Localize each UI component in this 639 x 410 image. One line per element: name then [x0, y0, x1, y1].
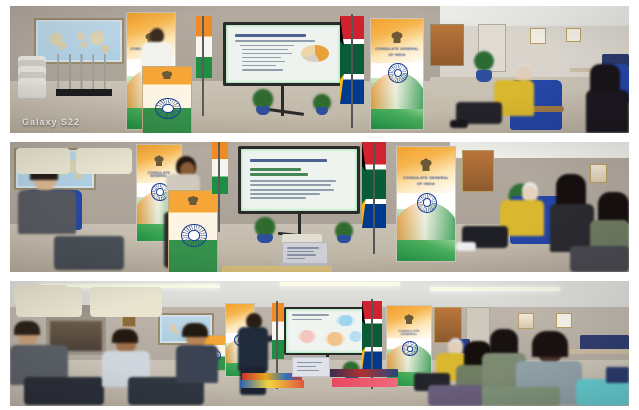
- plant-left: [250, 86, 276, 108]
- stacked-chairs: [18, 56, 46, 98]
- audience-legs-left: [54, 236, 124, 270]
- projection-screen-frame: [284, 307, 372, 355]
- presenter-body: [238, 327, 268, 371]
- collage-panel-top: CONSULATE GENERAL OF INDIA: [10, 6, 629, 133]
- laptop-screen: [292, 357, 330, 377]
- banner-title-right: CONSULATE GENERAL: [390, 330, 429, 336]
- india-flag: [212, 142, 228, 194]
- plant-pot-back: [476, 70, 492, 82]
- audience-body-4: [550, 204, 594, 252]
- projection-screen: [226, 25, 340, 83]
- sa-flag-pole: [351, 14, 353, 128]
- audience-body-3: [176, 345, 218, 383]
- scene-middle: CONSULATE GENERAL: [10, 142, 629, 272]
- india-flag: [272, 303, 284, 359]
- books-left-2: [240, 380, 304, 388]
- audience-hair-7: [532, 331, 568, 357]
- india-flag-pole: [218, 142, 220, 232]
- trolley-wheels: [56, 89, 112, 96]
- banner-title-right: CONSULATE GENERAL: [400, 177, 451, 181]
- ceiling: [440, 6, 629, 28]
- ceiling-light-3: [430, 287, 560, 291]
- india-flag-pole: [202, 16, 204, 116]
- audience-legs-1: [24, 377, 104, 405]
- audience-body-8: [576, 379, 629, 406]
- sa-flag-pole: [373, 142, 375, 254]
- framed-portrait: [530, 28, 546, 44]
- books-right-1: [326, 369, 398, 377]
- framed-portrait-1: [518, 313, 534, 329]
- audience-body-2: [586, 90, 629, 133]
- plant-pot-left: [257, 234, 273, 243]
- book-table: [222, 266, 332, 272]
- projection-screen: [286, 309, 370, 353]
- audience-hair-4: [556, 174, 586, 208]
- audience-hair-2: [112, 329, 138, 343]
- wall-photo: [430, 24, 464, 66]
- audience-legs-7: [482, 387, 560, 406]
- projection-screen-frame: [238, 146, 360, 214]
- plant-pot-right: [337, 235, 351, 243]
- projection-screen-frame: [223, 22, 343, 86]
- banner-subtitle-right: OF INDIA: [400, 183, 451, 187]
- scene-top: CONSULATE GENERAL OF INDIA: [10, 6, 629, 133]
- podium: [168, 190, 218, 272]
- audience-shoe-1: [450, 120, 468, 128]
- banner-title-right: CONSULATE GENERAL: [374, 48, 420, 52]
- wall-photo: [434, 307, 462, 343]
- chair-far-right: [606, 367, 629, 383]
- watermark-label: Galaxy S22: [22, 117, 80, 127]
- audience-shoe-3: [456, 242, 476, 251]
- rollup-banner-right: CONSULATE GENERAL OF INDIA: [370, 18, 424, 130]
- framed-certificate: [566, 28, 581, 42]
- ceiling-light-2: [280, 282, 400, 286]
- rollup-banner-right: CONSULATE GENERAL OF INDIA: [396, 146, 456, 262]
- audience-body-left: [18, 190, 76, 234]
- plant-left: [252, 214, 278, 236]
- projection-screen: [241, 149, 357, 211]
- india-flag: [196, 16, 212, 78]
- banner-subtitle-right: OF INDIA: [374, 54, 420, 58]
- books-right-2: [332, 378, 398, 387]
- scene-bottom: CONSULATE GENERAL: [10, 281, 629, 406]
- audience-legs-5: [570, 246, 629, 272]
- audience-hair-3: [182, 323, 208, 337]
- luggage-trolleys: [54, 54, 112, 94]
- plant-back: [472, 50, 496, 72]
- podium: [142, 66, 192, 133]
- collage-panel-middle: CONSULATE GENERAL: [10, 142, 629, 272]
- photo-collage: CONSULATE GENERAL OF INDIA: [0, 0, 639, 410]
- framed-portrait: [590, 164, 607, 183]
- audience-hair-6: [490, 329, 518, 355]
- audience-hair-1: [14, 321, 40, 335]
- wall-photo: [462, 150, 494, 192]
- back-desk: [570, 349, 629, 354]
- collage-panel-bottom: CONSULATE GENERAL: [10, 281, 629, 406]
- framed-portrait-2: [556, 313, 572, 328]
- audience-legs-5: [428, 385, 484, 406]
